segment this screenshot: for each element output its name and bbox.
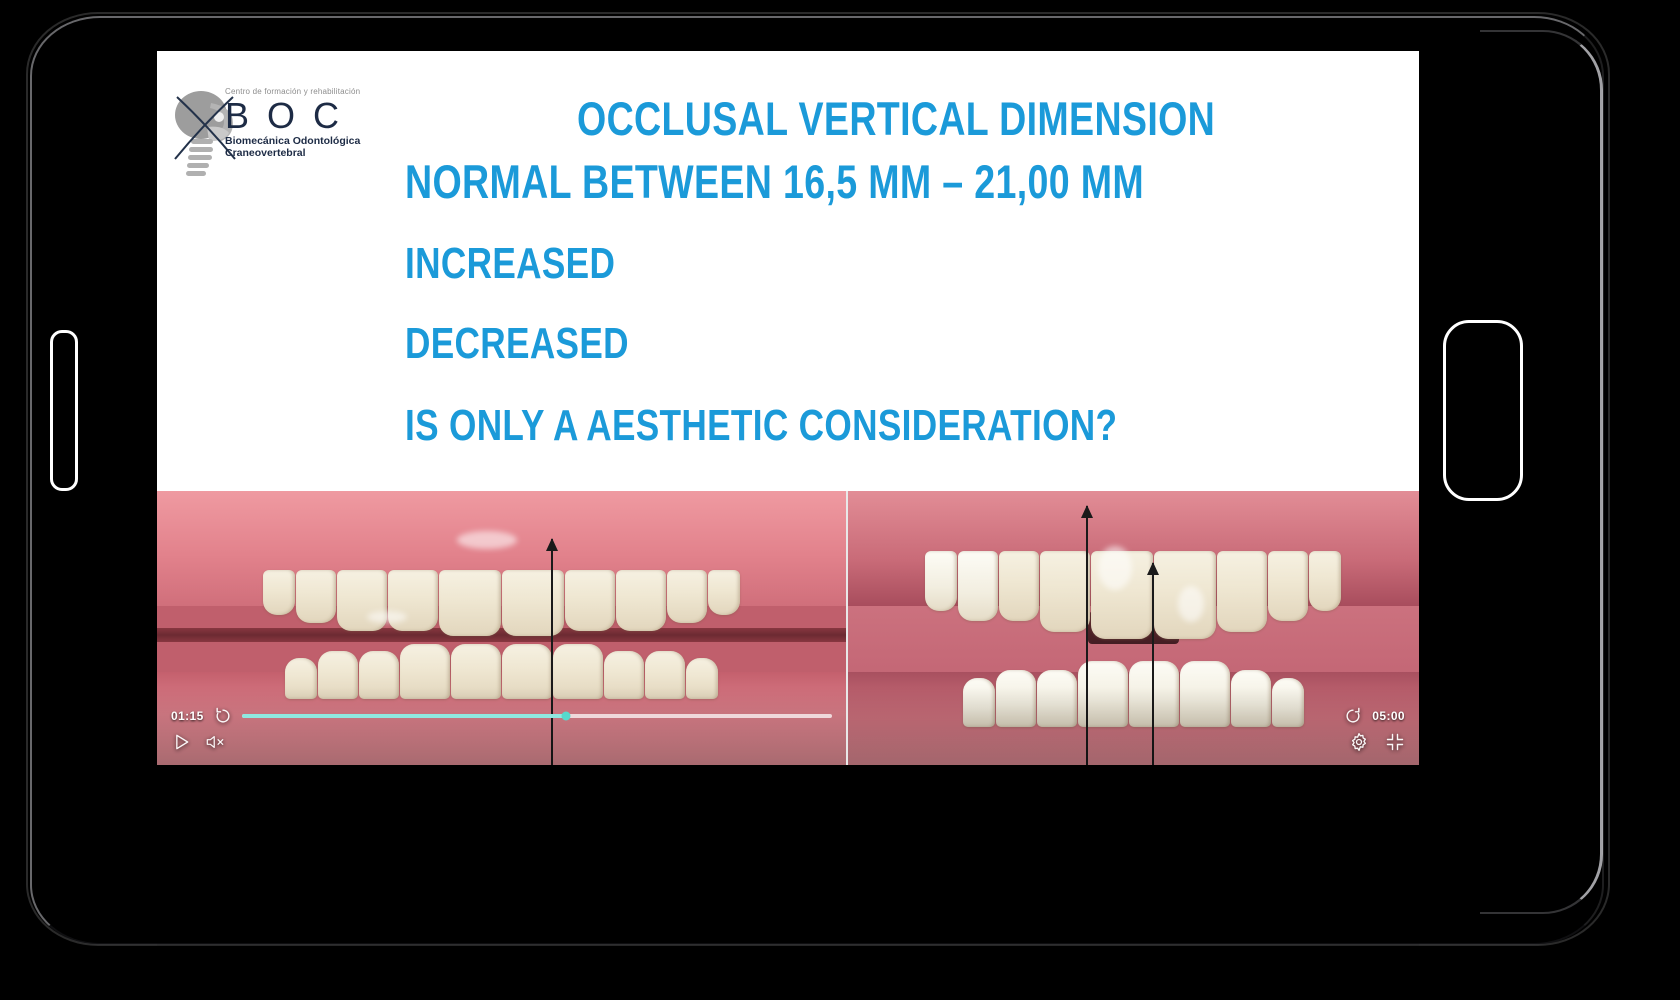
logo-acronym: B O C [225, 97, 385, 135]
logo-name-line2: Craneovertebral [225, 147, 385, 159]
video-panel-right[interactable]: 05:00 [846, 491, 1419, 765]
slide-line-title: OCCLUSAL VERTICAL DIMENSION [577, 91, 1215, 146]
progress-bar[interactable] [242, 714, 832, 718]
power-button[interactable] [1443, 320, 1523, 501]
video-panel-left[interactable]: 01:15 [157, 491, 846, 765]
total-time: 05:00 [1372, 709, 1405, 723]
video-controls-right: 05:00 [1343, 703, 1405, 755]
video-area: 01:15 [157, 491, 1419, 765]
rewind-10-icon[interactable] [213, 706, 233, 726]
play-icon[interactable] [171, 732, 191, 752]
volume-muted-icon[interactable] [205, 732, 225, 752]
volume-button[interactable] [50, 330, 78, 491]
video-controls-left: 01:15 [157, 703, 846, 765]
slide-line-increased: INCREASED [405, 239, 615, 289]
slide-line-aesthetic: IS ONLY A AESTHETIC CONSIDERATION? [405, 401, 1117, 451]
progress-knob [562, 712, 571, 721]
boc-logo-text: Centro de formación y rehabilitación B O… [225, 87, 385, 159]
forward-10-icon[interactable] [1343, 706, 1363, 726]
exit-fullscreen-icon[interactable] [1385, 732, 1405, 752]
phone-screen: Centro de formación y rehabilitación B O… [157, 51, 1419, 765]
slide-line-decreased: DECREASED [405, 319, 629, 369]
screenshot-root: Centro de formación y rehabilitación B O… [0, 0, 1680, 1000]
slide-line-normal: NORMAL BETWEEN 16,5 MM – 21,00 MM [405, 154, 1144, 209]
gear-icon[interactable] [1349, 732, 1369, 752]
presentation-slide: Centro de formación y rehabilitación B O… [157, 51, 1419, 491]
screen-reflection: 01:15 [157, 806, 1419, 1000]
current-time: 01:15 [171, 709, 204, 723]
controls-gradient [848, 687, 1419, 765]
logo-name-line1: Biomecánica Odontológica [225, 135, 385, 147]
progress-fill [242, 714, 567, 718]
